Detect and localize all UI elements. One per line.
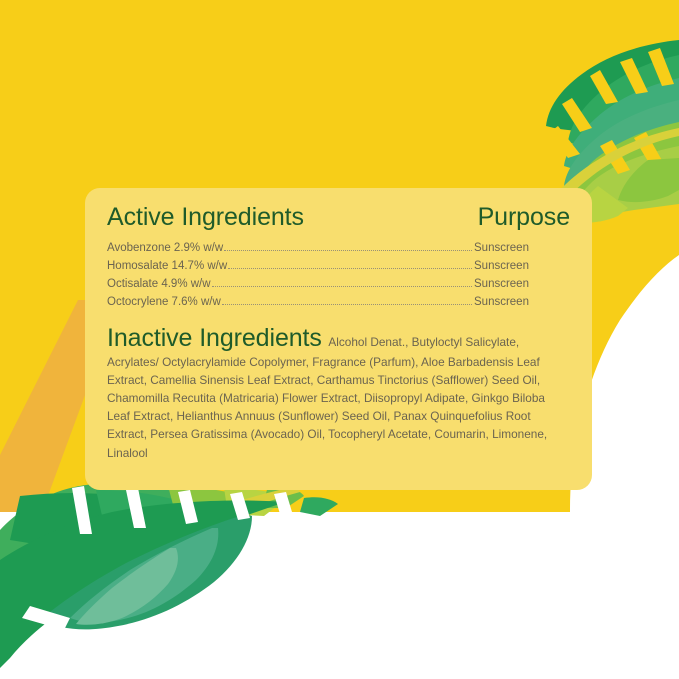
dot-leader: [224, 249, 472, 251]
ingredient-name: Octisalate 4.9% w/w: [107, 279, 211, 291]
ingredient-name: Avobenzone 2.9% w/w: [107, 243, 223, 255]
ingredient-purpose: Sunscreen: [474, 297, 570, 309]
dot-leader: [212, 285, 472, 287]
inactive-ingredients-block: Inactive Ingredients Alcohol Denat., But…: [107, 325, 570, 462]
product-label-page: Active Ingredients Purpose Avobenzone 2.…: [0, 0, 679, 679]
ingredient-row: Avobenzone 2.9% w/w Sunscreen: [107, 243, 570, 255]
ingredient-row: Octisalate 4.9% w/w Sunscreen: [107, 279, 570, 291]
ingredients-card: Active Ingredients Purpose Avobenzone 2.…: [85, 188, 592, 490]
ingredient-row: Octocrylene 7.6% w/w Sunscreen: [107, 297, 570, 309]
ingredient-row: Homosalate 14.7% w/w Sunscreen: [107, 261, 570, 273]
inactive-ingredients-heading: Inactive Ingredients: [107, 324, 322, 352]
inactive-ingredients-text: Alcohol Denat., Butyloctyl Salicylate, A…: [107, 335, 547, 460]
active-ingredients-heading: Active Ingredients: [107, 204, 304, 232]
inactive-paragraph: Inactive Ingredients Alcohol Denat., But…: [107, 325, 570, 462]
card-heading-row: Active Ingredients Purpose: [107, 204, 570, 232]
dot-leader: [228, 267, 472, 269]
ingredient-purpose: Sunscreen: [474, 243, 570, 255]
active-ingredients-list: Avobenzone 2.9% w/w Sunscreen Homosalate…: [107, 243, 570, 309]
ingredient-purpose: Sunscreen: [474, 279, 570, 291]
ingredient-purpose: Sunscreen: [474, 261, 570, 273]
ingredient-name: Homosalate 14.7% w/w: [107, 261, 227, 273]
ingredient-name: Octocrylene 7.6% w/w: [107, 297, 221, 309]
purpose-heading: Purpose: [478, 204, 570, 232]
dot-leader: [222, 303, 472, 305]
